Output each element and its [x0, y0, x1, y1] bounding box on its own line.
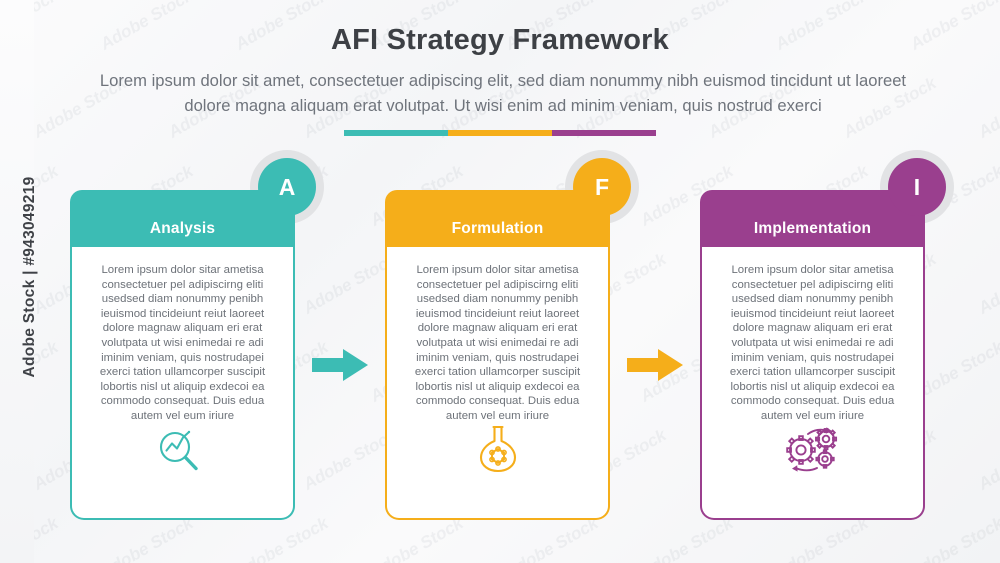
divider-segment-teal	[344, 130, 448, 136]
watermark-sidebar-text: Adobe Stock | #943049219	[21, 137, 39, 417]
badge-letter-implementation: I	[914, 174, 920, 201]
watermark-tile: Adobe Stock	[975, 425, 1000, 494]
card-analysis[interactable]: Analysis Lorem ipsum dolor sitar ametisa…	[70, 190, 295, 520]
gears-cycle-icon	[781, 424, 845, 477]
badge-analysis[interactable]: A	[258, 158, 316, 216]
badge-implementation[interactable]: I	[888, 158, 946, 216]
card-body-analysis: Lorem ipsum dolor sitar ametisa consecte…	[70, 247, 295, 520]
page-title: AFI Strategy Framework	[0, 24, 1000, 57]
watermark-tile: Adobe Stock	[975, 73, 1000, 142]
arrow-formulation-to-implementation	[627, 349, 683, 381]
arrow-analysis-to-formulation	[312, 349, 368, 381]
divider-segment-purple	[552, 130, 656, 136]
card-implementation[interactable]: Implementation Lorem ipsum dolor sitar a…	[700, 190, 925, 520]
card-text-formulation: Lorem ipsum dolor sitar ametisa consecte…	[401, 263, 594, 424]
card-title-formulation: Formulation	[452, 220, 544, 238]
card-body-formulation: Lorem ipsum dolor sitar ametisa consecte…	[385, 247, 610, 520]
card-text-implementation: Lorem ipsum dolor sitar ametisa consecte…	[716, 263, 909, 424]
flask-molecule-icon	[476, 424, 520, 479]
magnifier-chart-icon	[156, 427, 210, 476]
page-subtitle: Lorem ipsum dolor sit amet, consectetuer…	[78, 68, 928, 118]
card-title-implementation: Implementation	[754, 220, 871, 238]
watermark-tile: Adobe Stock	[975, 249, 1000, 318]
watermark-tile: Adobe Stock	[772, 513, 872, 563]
divider-bar	[344, 130, 656, 136]
watermark-tile: Adobe Stock	[637, 513, 737, 563]
watermark-tile: Adobe Stock	[907, 513, 1000, 563]
watermark-tile: Adobe Stock	[232, 513, 332, 563]
watermark-sidebar: Adobe Stock | #943049219	[0, 0, 34, 563]
watermark-tile: Adobe Stock	[502, 513, 602, 563]
card-body-implementation: Lorem ipsum dolor sitar ametisa consecte…	[700, 247, 925, 520]
watermark-tile: Adobe Stock	[367, 513, 467, 563]
badge-formulation[interactable]: F	[573, 158, 631, 216]
card-text-analysis: Lorem ipsum dolor sitar ametisa consecte…	[86, 263, 279, 424]
badge-letter-analysis: A	[279, 174, 296, 201]
watermark-tile: Adobe Stock	[97, 513, 197, 563]
card-title-analysis: Analysis	[150, 220, 215, 238]
card-formulation[interactable]: Formulation Lorem ipsum dolor sitar amet…	[385, 190, 610, 520]
divider-segment-amber	[448, 130, 552, 136]
badge-letter-formulation: F	[595, 174, 609, 201]
